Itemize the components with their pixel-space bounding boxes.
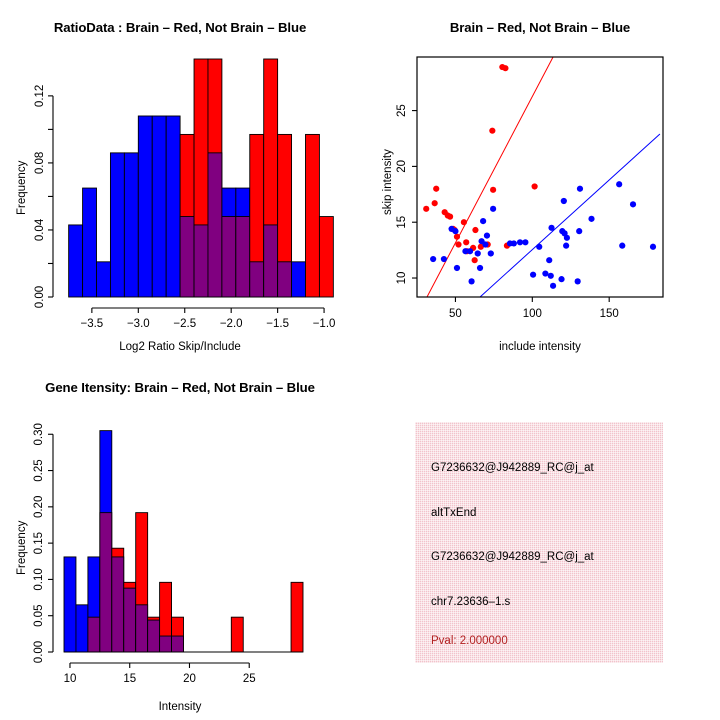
- scatter-plot-box: [417, 57, 663, 297]
- x-axis-tick-label: 20: [183, 673, 196, 685]
- scatter-point: [530, 272, 536, 278]
- scatter-point: [576, 228, 582, 234]
- scatter-point: [461, 219, 467, 225]
- scatter-point: [490, 206, 496, 212]
- x-axis-tick-label: 15: [123, 673, 136, 685]
- histogram-bar-overlap: [88, 617, 100, 652]
- scatter-point: [454, 234, 460, 240]
- histogram-bar: [83, 188, 97, 297]
- scatter-point: [564, 235, 570, 241]
- y-axis-tick-label: 15: [396, 216, 408, 229]
- scatter-point: [455, 241, 461, 247]
- scatter-point: [447, 214, 453, 220]
- figure-canvas: RatioData : Brain – Red, Not Brain – Blu…: [0, 0, 720, 720]
- not-brain-fit-line: [480, 134, 660, 297]
- scatter-point: [522, 239, 528, 245]
- y-axis-tick-label: 0.30: [33, 423, 45, 445]
- histogram-bar-overlap: [124, 588, 136, 652]
- info-gene-id: G7236632@J942889_RC@j_at: [431, 551, 594, 563]
- scatter-point: [588, 216, 594, 222]
- x-axis-tick-label: −1.0: [313, 318, 336, 330]
- panel-gene-histogram: Gene Itensity: Brain – Red, Not Brain – …: [0, 360, 360, 720]
- scatter-point: [454, 265, 460, 271]
- scatter-point: [482, 241, 488, 247]
- histogram-bar-overlap: [278, 262, 292, 297]
- histogram-bar: [291, 582, 303, 652]
- scatter-point: [433, 186, 439, 192]
- histogram-bar-overlap: [148, 620, 160, 652]
- scatter-point: [561, 198, 567, 204]
- ratio-histogram-ylabel: Frequency: [16, 161, 28, 215]
- scatter-point: [432, 200, 438, 206]
- x-axis-tick-label: −1.5: [266, 318, 289, 330]
- histogram-bar-overlap: [112, 557, 124, 652]
- scatter-point: [650, 244, 656, 250]
- scatter-point: [548, 225, 554, 231]
- scatter-point: [441, 256, 447, 262]
- histogram-bar-overlap: [208, 153, 222, 297]
- histogram-bar-overlap: [172, 636, 184, 652]
- scatter-point: [532, 183, 538, 189]
- histogram-bar-overlap: [180, 217, 194, 297]
- x-axis-tick-label: −2.5: [173, 318, 196, 330]
- x-axis-tick-label: −3.5: [81, 318, 104, 330]
- histogram-bar: [76, 605, 88, 652]
- scatter-point: [536, 244, 542, 250]
- y-axis-tick-label: 0.05: [33, 605, 45, 627]
- y-axis-tick-label: 20: [396, 160, 408, 173]
- scatter-point: [475, 250, 481, 256]
- scatter-ylabel: skip intensity: [382, 149, 394, 215]
- scatter-xlabel: include intensity: [360, 341, 720, 353]
- histogram-bar: [152, 116, 166, 297]
- histogram-bar-overlap: [222, 217, 236, 297]
- scatter-point: [546, 257, 552, 263]
- y-axis-tick-label: 0.25: [33, 459, 45, 481]
- scatter-point: [452, 228, 458, 234]
- info-probeset-id: G7236632@J942889_RC@j_at: [431, 462, 594, 474]
- gene-histogram-ylabel: Frequency: [16, 521, 28, 575]
- histogram-bar-overlap: [250, 262, 264, 297]
- x-axis-tick-label: 50: [449, 308, 462, 320]
- gene-histogram-plot: 0.000.050.100.150.200.250.3010152025: [0, 360, 360, 720]
- histogram-bar-overlap: [136, 605, 148, 652]
- info-panel-box: G7236632@J942889_RC@j_at altTxEnd G72366…: [415, 422, 663, 663]
- histogram-bar: [231, 617, 243, 652]
- scatter-point: [511, 240, 517, 246]
- x-axis-tick-label: 25: [243, 673, 256, 685]
- histogram-bar-overlap: [160, 636, 172, 652]
- x-axis-tick-label: 150: [600, 308, 619, 320]
- y-axis-tick-label: 0.04: [34, 218, 46, 241]
- histogram-bar: [166, 116, 180, 297]
- histogram-bar: [97, 262, 111, 297]
- histogram-bar-overlap: [236, 217, 250, 297]
- y-axis-tick-label: 10: [396, 272, 408, 285]
- histogram-bar: [292, 262, 306, 297]
- ratio-histogram-xlabel: Log2 Ratio Skip/Include: [0, 341, 360, 353]
- scatter-point: [489, 128, 495, 134]
- scatter-point: [550, 283, 556, 289]
- scatter-point: [575, 278, 581, 284]
- scatter-point: [467, 248, 473, 254]
- scatter-plot: 1015202550100150: [360, 0, 720, 360]
- x-axis-tick-label: −3.0: [127, 318, 150, 330]
- scatter-point: [577, 186, 583, 192]
- gene-histogram-xlabel: Intensity: [0, 701, 360, 713]
- scatter-point: [548, 273, 554, 279]
- histogram-bar: [124, 153, 138, 297]
- scatter-point: [477, 265, 483, 271]
- x-axis-tick-label: −2.0: [220, 318, 243, 330]
- histogram-bar: [138, 116, 152, 297]
- histogram-bar: [305, 134, 319, 297]
- scatter-point: [488, 250, 494, 256]
- y-axis-tick-label: 0.15: [33, 532, 45, 554]
- histogram-bar-overlap: [100, 513, 112, 652]
- scatter-point: [558, 276, 564, 282]
- scatter-point: [430, 256, 436, 262]
- info-locus: chr7.23636–1.s: [431, 596, 510, 608]
- scatter-point: [542, 270, 548, 276]
- x-axis-tick-label: 100: [523, 308, 542, 320]
- y-axis-tick-label: 0.00: [33, 641, 45, 663]
- ratio-histogram-plot: 0.000.040.080.12−3.5−3.0−2.5−2.0−1.5−1.0: [0, 0, 360, 360]
- scatter-point: [517, 239, 523, 245]
- histogram-bar: [64, 557, 76, 652]
- scatter-point: [484, 233, 490, 239]
- scatter-point: [472, 257, 478, 263]
- y-axis-tick-label: 0.20: [33, 496, 45, 518]
- y-axis-tick-label: 0.08: [34, 152, 46, 174]
- scatter-point: [490, 187, 496, 193]
- scatter-point: [563, 243, 569, 249]
- histogram-bar: [110, 153, 124, 297]
- scatter-point: [423, 206, 429, 212]
- scatter-point: [472, 227, 478, 233]
- histogram-bar-overlap: [194, 225, 208, 297]
- scatter-data-group: [423, 57, 660, 297]
- y-axis-tick-label: 0.10: [33, 568, 45, 590]
- info-event-type: altTxEnd: [431, 507, 476, 519]
- scatter-point: [463, 239, 469, 245]
- histogram-bar-overlap: [264, 225, 278, 297]
- histogram-bar: [69, 225, 83, 297]
- scatter-point: [630, 201, 636, 207]
- panel-ratio-histogram: RatioData : Brain – Red, Not Brain – Blu…: [0, 0, 360, 360]
- info-pval: Pval: 2.000000: [431, 635, 508, 647]
- y-axis-tick-label: 0.00: [34, 286, 46, 308]
- y-axis-tick-label: 0.12: [34, 85, 46, 107]
- panel-scatter: Brain – Red, Not Brain – Blue 1015202550…: [360, 0, 720, 360]
- x-axis-tick-label: 10: [64, 673, 77, 685]
- panel-info: G7236632@J942889_RC@j_at altTxEnd G72366…: [360, 360, 720, 720]
- scatter-point: [468, 278, 474, 284]
- scatter-point: [619, 243, 625, 249]
- scatter-point: [616, 181, 622, 187]
- histogram-bar: [319, 217, 333, 297]
- y-axis-tick-label: 25: [396, 104, 408, 117]
- scatter-point: [480, 218, 486, 224]
- scatter-point: [502, 65, 508, 71]
